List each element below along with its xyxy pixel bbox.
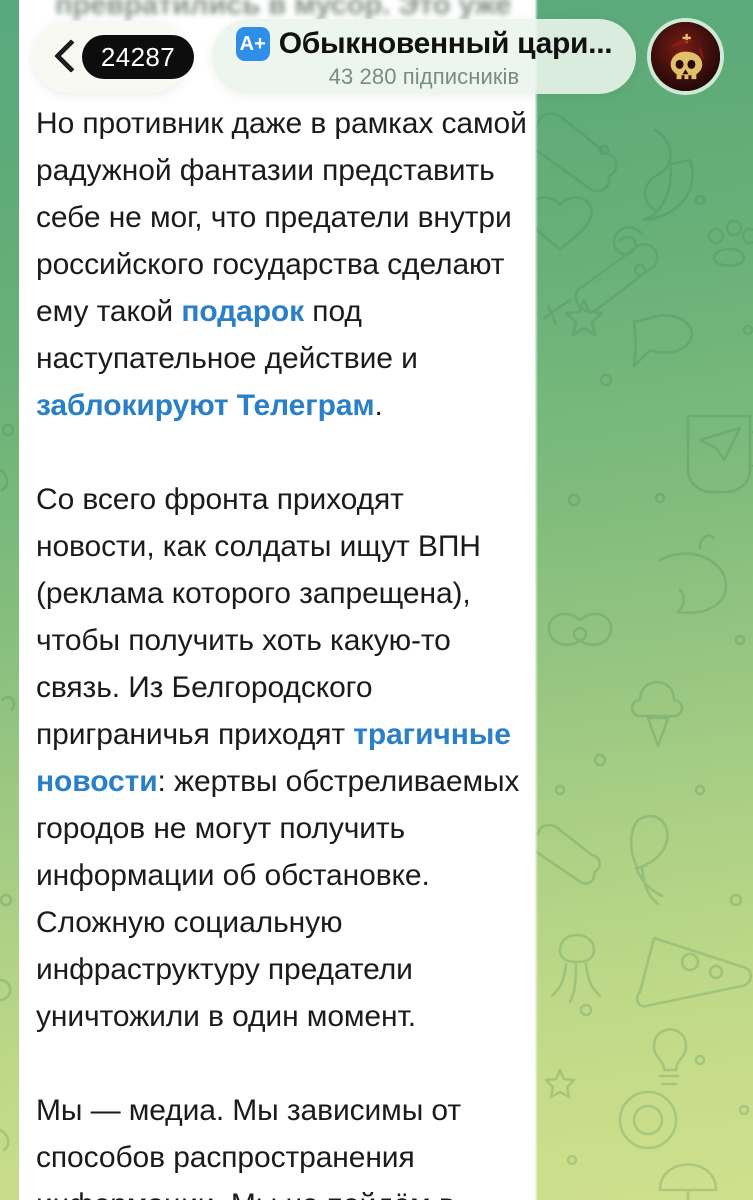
message-run: Мы — медиа. Мы зависимы от способов расп… (36, 1094, 461, 1200)
channel-title-pill[interactable]: A+ Обыкновенный цари... 43 280 підписник… (212, 19, 636, 94)
message-bubble[interactable]: превратились в мусор. Это уже Но противн… (19, 0, 535, 1200)
message-paragraph: Но противник даже в рамках самой радужно… (36, 100, 527, 429)
message-link[interactable]: заблокируют Телеграм (36, 389, 375, 422)
channel-subscribers: 43 280 підписників (212, 64, 636, 90)
unread-count-badge: 24287 (82, 35, 194, 79)
avatar[interactable] (651, 22, 720, 91)
message-text: Но противник даже в рамках самой радужно… (36, 100, 527, 1200)
message-run: Со всего фронта приходят новости, как со… (36, 483, 481, 751)
message-run: . (375, 389, 383, 422)
translate-badge-icon[interactable]: A+ (236, 27, 270, 61)
message-paragraph: Со всего фронта приходят новости, как со… (36, 476, 527, 1040)
chevron-left-icon (54, 40, 74, 74)
message-paragraph: Мы — медиа. Мы зависимы от способов расп… (36, 1087, 527, 1200)
telegram-channel-screen: превратились в мусор. Это уже Но противн… (0, 0, 753, 1200)
message-run: : жертвы обстреливаемых городов не могут… (36, 765, 519, 1033)
back-button[interactable]: 24287 (33, 21, 188, 93)
message-link[interactable]: подарок (181, 295, 304, 328)
channel-name: Обыкновенный цари... (279, 27, 613, 61)
bubble-edge-shadow (535, 0, 538, 1200)
